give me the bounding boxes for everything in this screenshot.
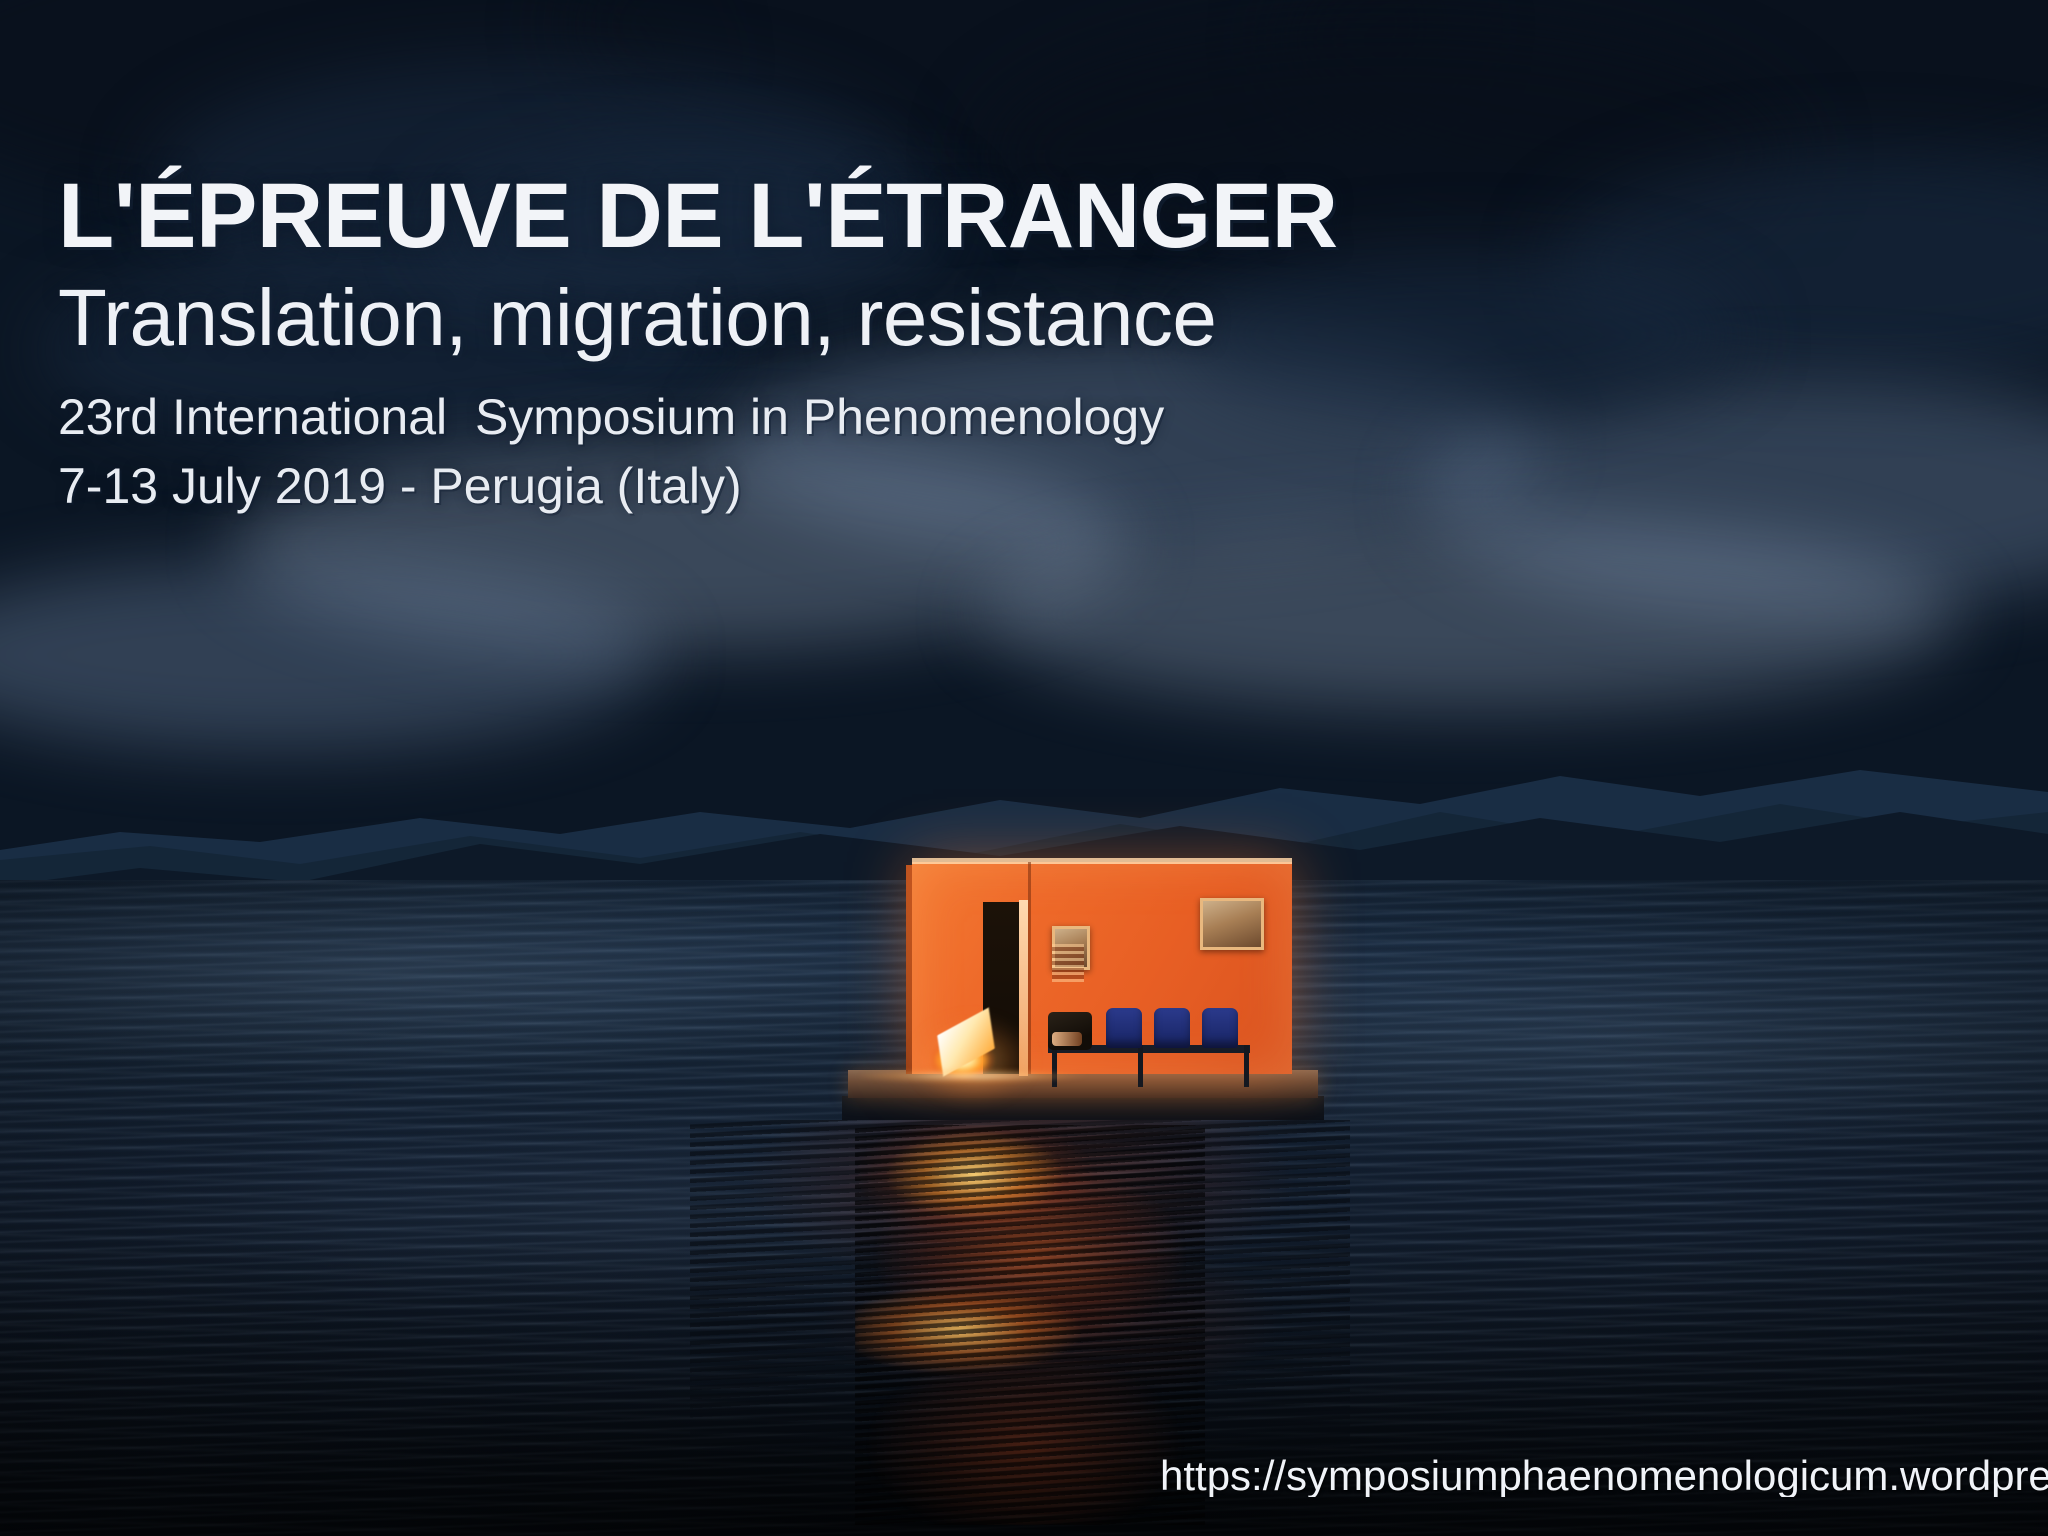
cloud-dark — [560, 0, 1460, 190]
page-subtitle: Translation, migration, resistance — [58, 278, 1618, 358]
cloud-pale — [980, 520, 1960, 710]
wall-poster-strip — [1052, 944, 1084, 982]
wall-picture-large — [1200, 898, 1264, 950]
cloud-dark — [1280, 0, 2048, 190]
floating-room-installation — [820, 840, 1340, 1140]
event-name: 23rd International Symposium in Phenomen… — [58, 384, 1618, 451]
chair — [1154, 1008, 1190, 1048]
wall-seam — [1028, 862, 1031, 1074]
door-panel — [1019, 900, 1028, 1076]
website-url[interactable]: https://symposiumphaenomenologicum.wordp… — [1160, 1455, 2048, 1497]
cloud-mid — [1550, 150, 2048, 380]
page-title: L'ÉPREUVE DE L'ÉTRANGER — [58, 170, 1618, 262]
event-date-location: 7-13 July 2019 - Perugia (Italy) — [58, 453, 1618, 520]
chair — [1106, 1008, 1142, 1048]
bench-leg — [1244, 1045, 1249, 1087]
room-top-edge — [912, 858, 1292, 864]
deck-light-sheen — [860, 1068, 1140, 1084]
cloud-light — [0, 560, 660, 750]
poster-canvas: L'ÉPREUVE DE L'ÉTRANGER Translation, mig… — [0, 0, 2048, 1536]
occupied-seat — [1048, 1012, 1092, 1050]
chair — [1202, 1008, 1238, 1048]
raft-side — [842, 1096, 1324, 1120]
poster-text-block: L'ÉPREUVE DE L'ÉTRANGER Translation, mig… — [58, 170, 1618, 520]
